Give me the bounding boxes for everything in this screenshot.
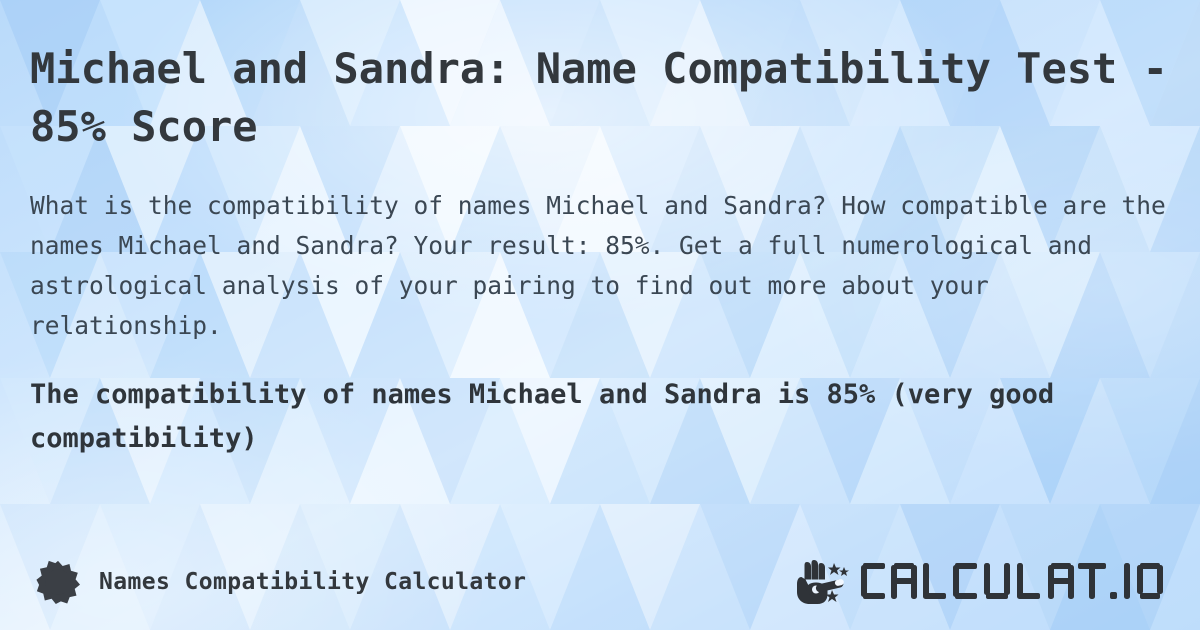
- site-logo[interactable]: CALCULAT.IO: [796, 559, 1170, 605]
- starburst-icon: [36, 560, 80, 604]
- result-rating: very good compatibility: [30, 461, 31, 462]
- result-name-two: Sandra: [30, 461, 31, 462]
- footer-brand-label: Names Compatibility Calculator: [99, 569, 526, 595]
- share-card: Michael and Sandra: Name Compatibility T…: [0, 0, 1200, 630]
- result-name-one: Michael: [30, 461, 31, 462]
- footer-brand: Names Compatibility Calculator: [36, 560, 526, 604]
- logo-wordmark: [860, 560, 1170, 604]
- description-paragraph: What is the compatibility of names Micha…: [30, 186, 1170, 346]
- magic-wand-hand-icon: [796, 559, 852, 605]
- page-title: Michael and Sandra: Name Compatibility T…: [30, 40, 1170, 156]
- result-statement: The compatibility of names Michael and S…: [30, 373, 1170, 461]
- footer: Names Compatibility Calculator: [0, 534, 1200, 630]
- result-score: 85%: [30, 461, 31, 462]
